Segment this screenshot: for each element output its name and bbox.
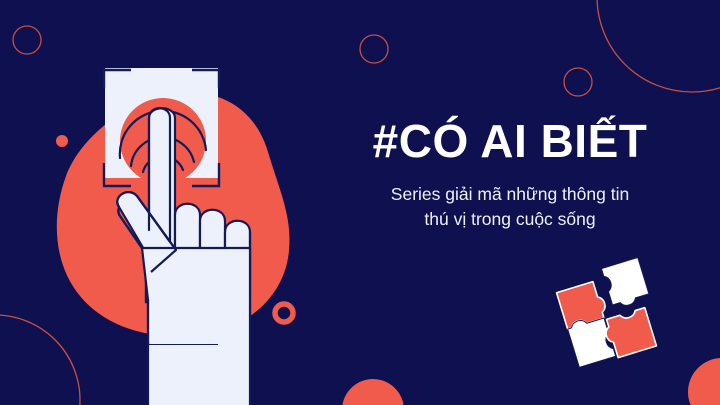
subtitle-line-2: thú vị trong cuộc sống xyxy=(320,207,700,232)
slide-canvas: #CÓ AI BIẾT Series giải mã những thông t… xyxy=(0,0,720,405)
subtitle-line-1: Series giải mã những thông tin xyxy=(320,182,700,207)
page-subtitle: Series giải mã những thông tin thú vị tr… xyxy=(320,182,700,233)
text-block: #CÓ AI BIẾT Series giải mã những thông t… xyxy=(320,118,700,233)
puzzle-piece-top-right xyxy=(601,257,650,309)
page-title: #CÓ AI BIẾT xyxy=(320,118,700,164)
